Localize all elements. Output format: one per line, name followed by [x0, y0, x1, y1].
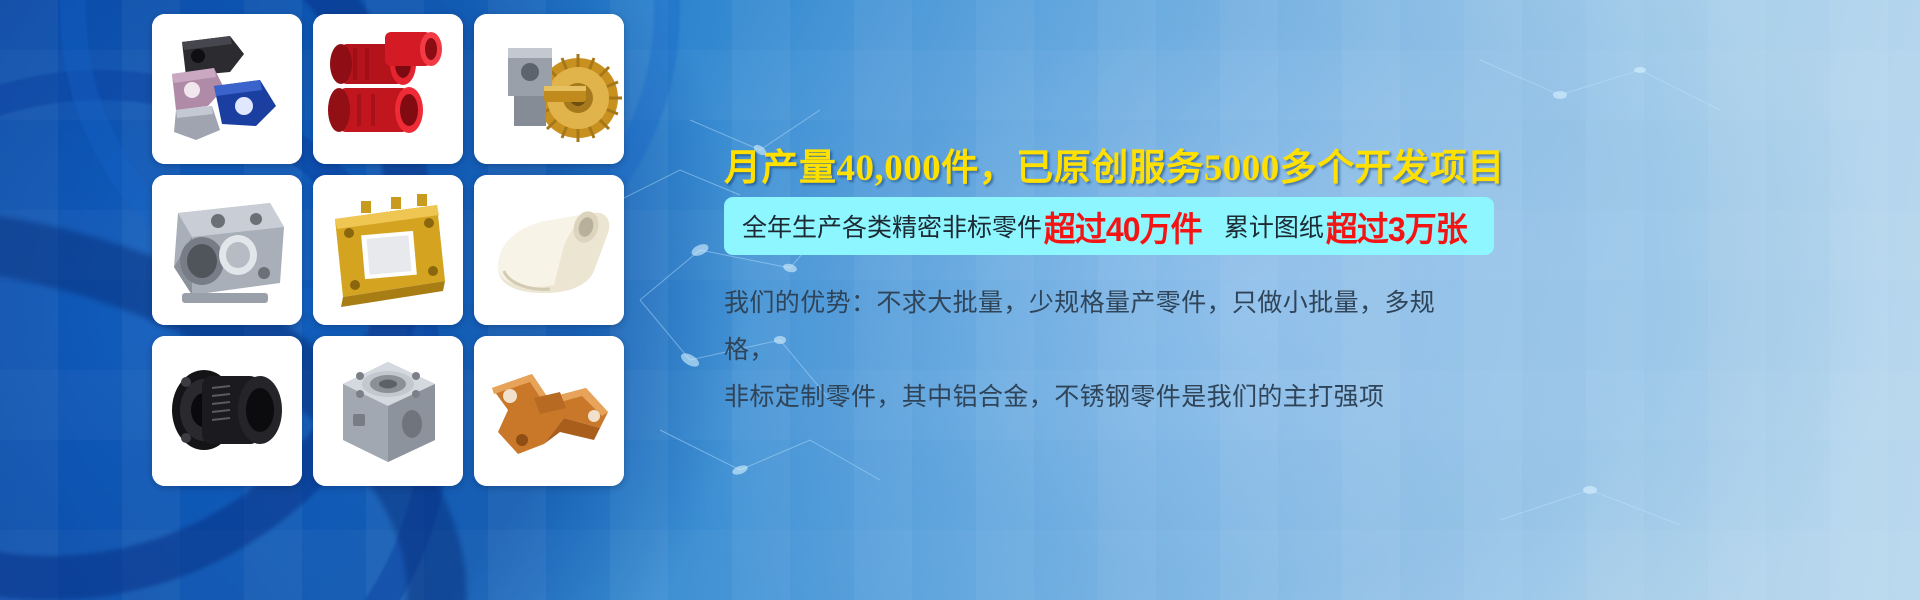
white-plastic-curved-cover-icon: [474, 175, 624, 325]
banner-body-line-2: 非标定制零件，其中铝合金，不锈钢零件是我们的主打强项: [724, 374, 1454, 421]
product-card-copper-anodized-support-arm[interactable]: [474, 336, 624, 486]
banner-text-column: 月产量40,000件，已原创服务5000多个开发项目 全年生产各类精密非标零件 …: [716, 0, 1920, 600]
highlight-bar: 全年生产各类精密非标零件 超过40万件 累计图纸 超过3万张: [724, 197, 1494, 255]
black-anodized-round-housing-icon: [152, 336, 302, 486]
aluminum-cube-manifold-block-icon: [313, 336, 463, 486]
banner-headline: 月产量40,000件，已原创服务5000多个开发项目: [724, 137, 1505, 191]
product-card-aluminum-gearbox-housing[interactable]: [152, 175, 302, 325]
copper-anodized-support-arm-icon: [474, 336, 624, 486]
product-card-multi-color-anodized-brackets[interactable]: [152, 14, 302, 164]
product-gallery: [152, 14, 624, 586]
promo-banner: 月产量40,000件，已原创服务5000多个开发项目 全年生产各类精密非标零件 …: [0, 0, 1920, 600]
product-card-brass-worm-gear-shaft-assembly[interactable]: [474, 14, 624, 164]
multi-color-anodized-brackets-icon: [152, 14, 302, 164]
aluminum-gearbox-housing-icon: [152, 175, 302, 325]
product-card-gold-anodized-frame-plate[interactable]: [313, 175, 463, 325]
highlight-lead-text: 全年生产各类精密非标零件: [742, 208, 1042, 244]
product-card-black-anodized-round-housing[interactable]: [152, 336, 302, 486]
banner-body-line-1: 我们的优势：不求大批量，少规格量产零件，只做小批量，多规格，: [724, 280, 1454, 374]
highlight-mid-text: 累计图纸: [1224, 208, 1324, 244]
gold-anodized-frame-plate-icon: [313, 175, 463, 325]
product-card-aluminum-cube-manifold-block[interactable]: [313, 336, 463, 486]
product-card-red-anodized-cylinder-housings[interactable]: [313, 14, 463, 164]
product-card-white-plastic-curved-cover[interactable]: [474, 175, 624, 325]
highlight-emphasis-1: 超过40万件: [1042, 202, 1204, 251]
brass-worm-gear-shaft-assembly-icon: [474, 14, 624, 164]
highlight-emphasis-2: 超过3万张: [1324, 202, 1469, 251]
red-anodized-cylinder-housings-icon: [313, 14, 463, 164]
banner-body-copy: 我们的优势：不求大批量，少规格量产零件，只做小批量，多规格， 非标定制零件，其中…: [724, 280, 1454, 421]
